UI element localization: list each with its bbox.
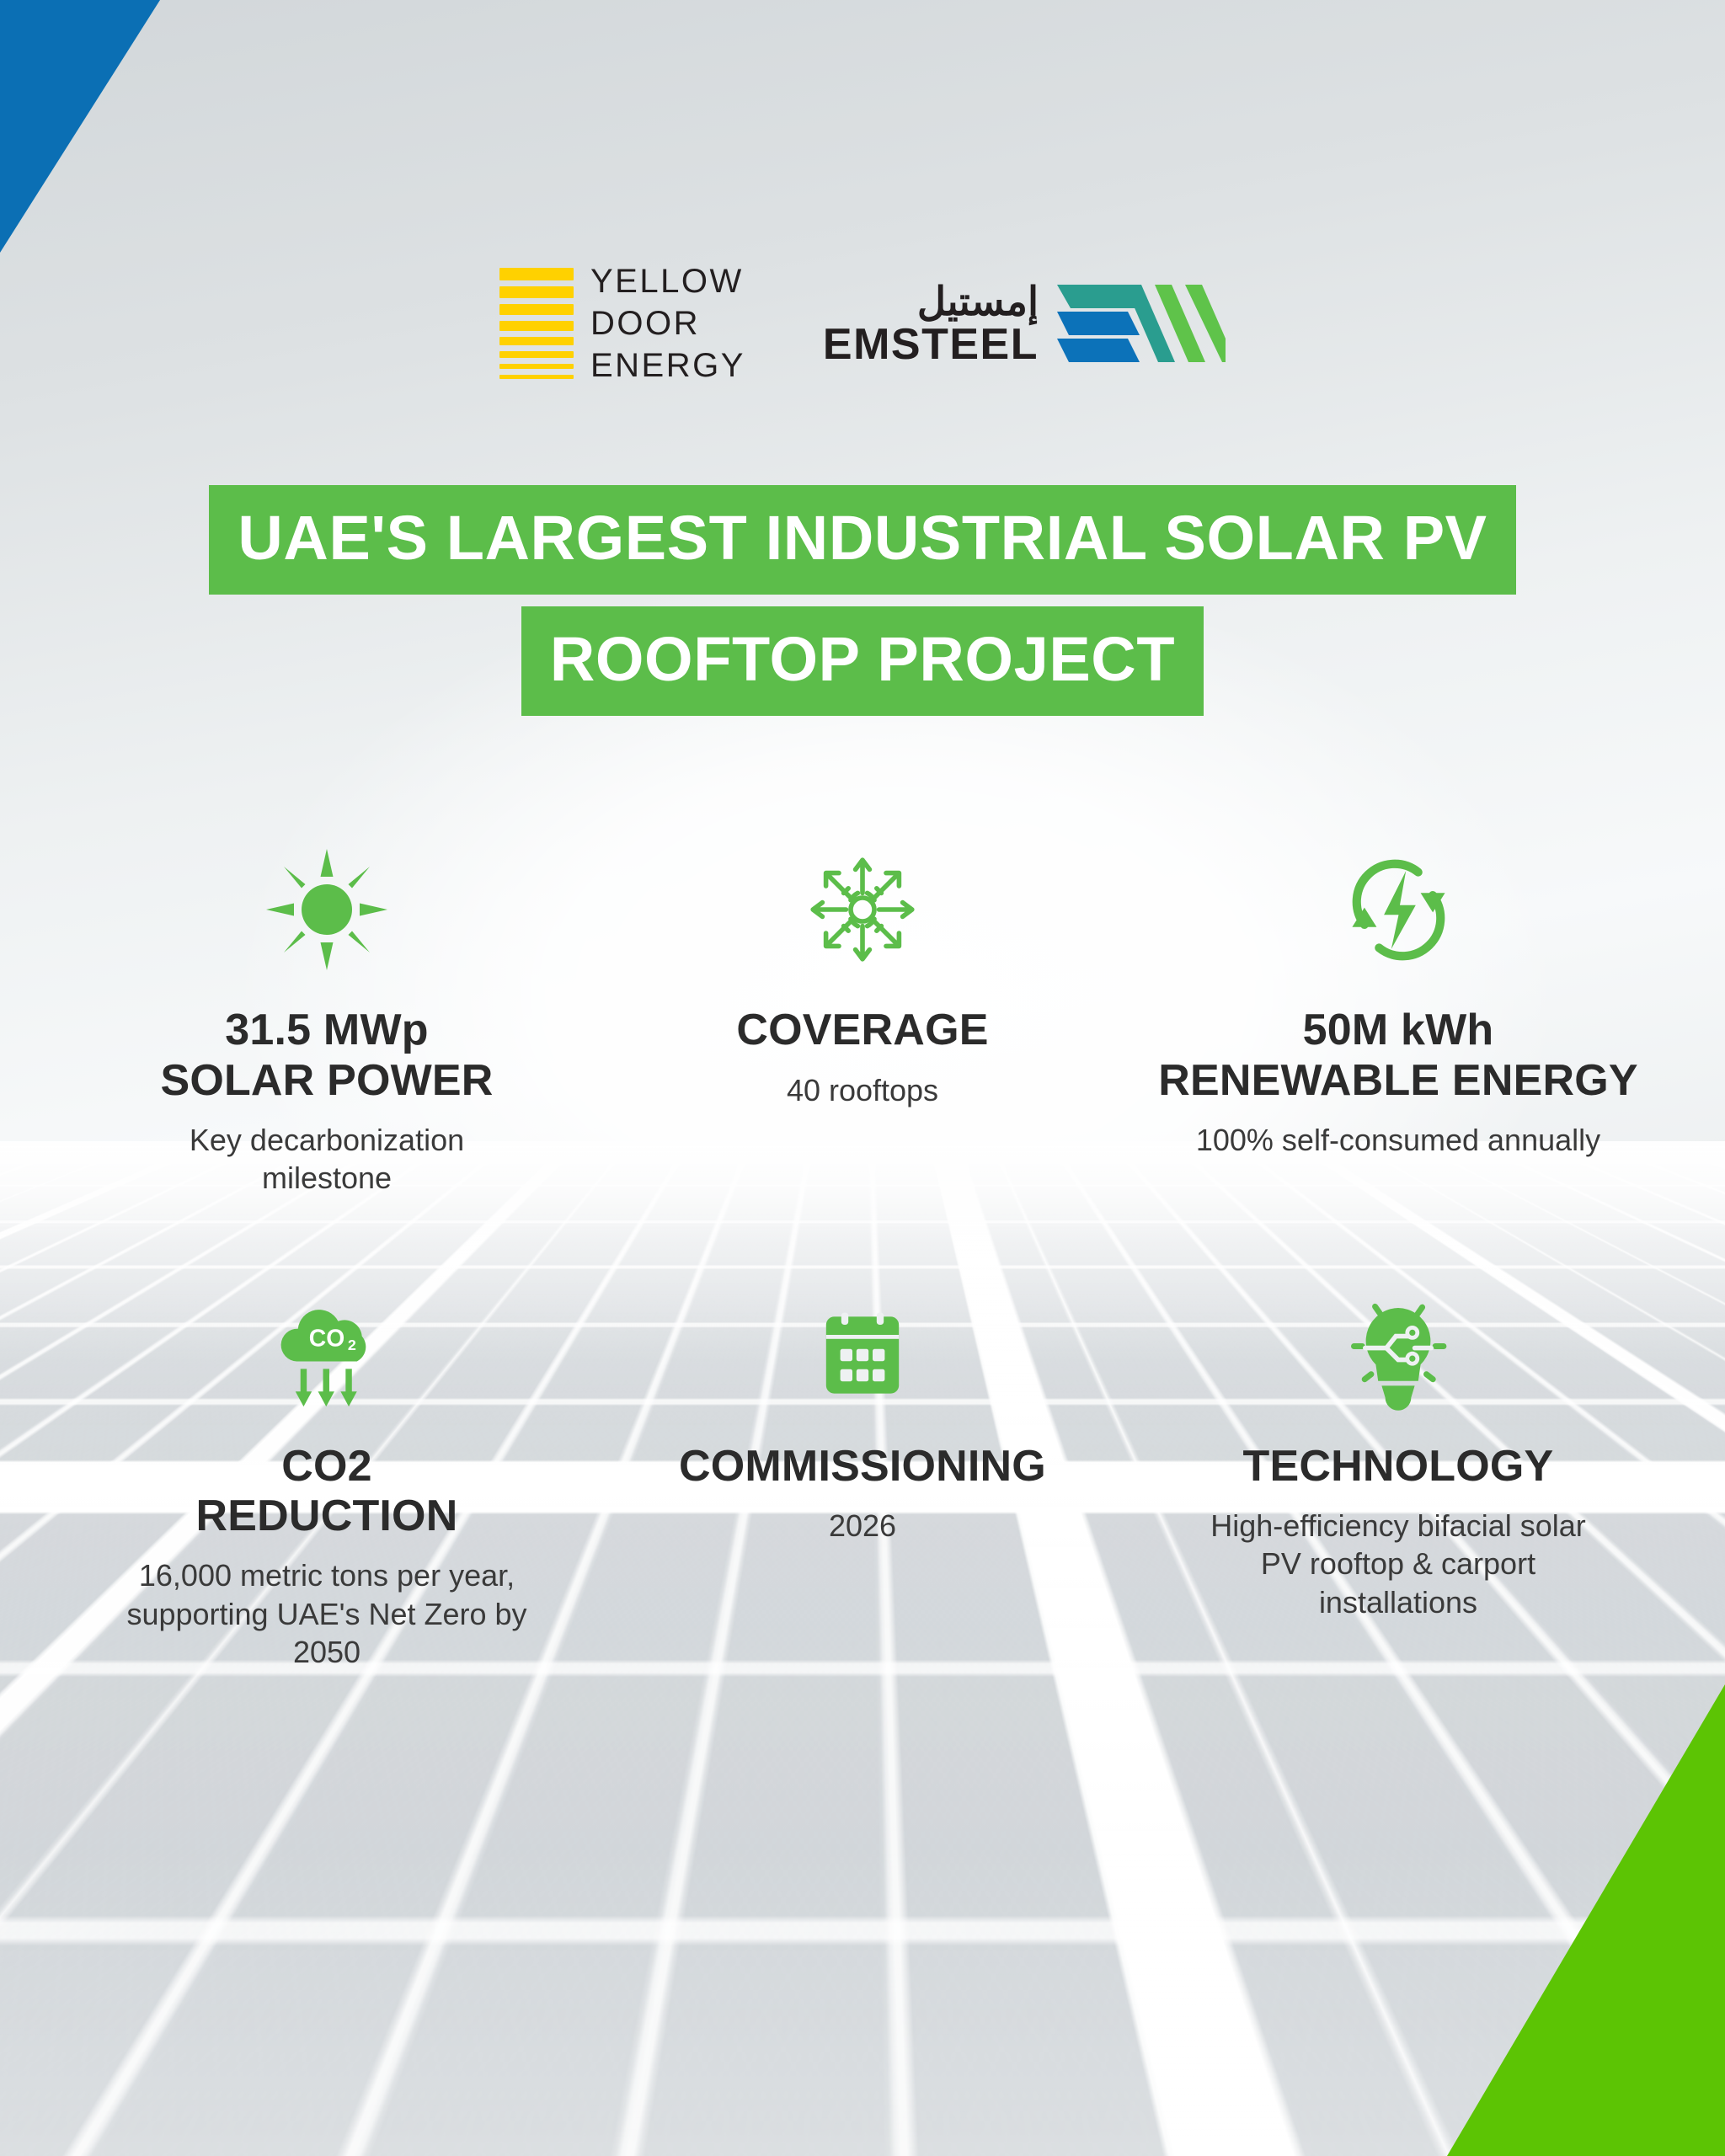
stat-sub: 16,000 metric tons per year, supporting … [120,1556,533,1671]
stat-headline: TECHNOLOGY [1243,1442,1554,1492]
yellow-door-bars-icon [499,268,574,379]
coverage-hub-icon [804,842,921,977]
stat-headline: COMMISSIONING [679,1442,1046,1492]
stat-commissioning: COMMISSIONING 2026 [595,1292,1130,1672]
stat-headline-line-1: 31.5 MWp [160,1006,493,1055]
stat-headline: 50M kWh RENEWABLE ENERGY [1158,1006,1638,1106]
stat-technology: TECHNOLOGY High-efficiency bifacial sola… [1130,1292,1666,1672]
stat-headline-line-1: 50M kWh [1158,1006,1638,1055]
stat-sub: High-efficiency bifacial solar PV roofto… [1192,1507,1605,1621]
poster-content: YELLOW DOOR ENERGY إمستيل EMSTEEL [0,0,1725,1671]
yde-line-2: DOOR [590,305,745,343]
stat-co2-reduction: CO 2 CO2 REDUCTION 16,000 metric tons pe… [59,1292,595,1672]
yde-line-1: YELLOW [590,263,745,301]
stat-headline-line-1: TECHNOLOGY [1243,1442,1554,1492]
stat-sub: 40 rooftops [787,1071,938,1109]
renewable-energy-icon [1338,842,1460,977]
emsteel-wordmark: إمستيل EMSTEEL [823,281,1039,366]
svg-text:2: 2 [348,1337,356,1353]
sun-icon [264,842,390,977]
title-line-1: UAE'S LARGEST INDUSTRIAL SOLAR PV [209,485,1515,595]
yde-line-3: ENERGY [590,347,745,385]
emsteel-mark-icon [1057,283,1226,364]
stat-headline: CO2 REDUCTION [196,1442,458,1542]
yellow-door-energy-logo: YELLOW DOOR ENERGY [499,263,745,384]
stat-sub: 100% self-consumed annually [1196,1121,1600,1159]
title-banner: UAE'S LARGEST INDUSTRIAL SOLAR PV ROOFTO… [0,485,1725,716]
co2-cloud-icon: CO 2 [264,1292,390,1418]
stat-headline-line-1: CO2 [196,1442,458,1492]
stat-sub: Key decarbonization milestone [125,1121,529,1198]
stat-headline-line-2: RENEWABLE ENERGY [1158,1056,1638,1106]
stat-headline-line-2: REDUCTION [196,1492,458,1541]
emsteel-english-text: EMSTEEL [823,323,1039,366]
stat-headline-line-1: COVERAGE [736,1006,988,1055]
yellow-door-wordmark: YELLOW DOOR ENERGY [590,263,745,384]
lightbulb-circuit-icon [1339,1292,1457,1418]
calendar-icon [812,1292,913,1418]
stat-headline-line-2: SOLAR POWER [160,1056,493,1106]
stat-coverage: COVERAGE 40 rooftops [595,842,1130,1197]
stat-headline-line-1: COMMISSIONING [679,1442,1046,1492]
emsteel-arabic-text: إمستيل [917,281,1039,321]
stat-solar-power: 31.5 MWp SOLAR POWER Key decarbonization… [59,842,595,1197]
stat-renewable-energy: 50M kWh RENEWABLE ENERGY 100% self-consu… [1130,842,1666,1197]
stats-grid: 31.5 MWp SOLAR POWER Key decarbonization… [0,842,1725,1671]
stat-headline: 31.5 MWp SOLAR POWER [160,1006,493,1106]
title-line-2: ROOFTOP PROJECT [521,606,1204,716]
svg-text:CO: CO [309,1324,344,1351]
infographic-poster: YELLOW DOOR ENERGY إمستيل EMSTEEL [0,0,1725,2156]
stat-headline: COVERAGE [736,1006,988,1055]
logo-row: YELLOW DOOR ENERGY إمستيل EMSTEEL [0,0,1725,384]
stat-sub: 2026 [829,1507,896,1545]
emsteel-logo: إمستيل EMSTEEL [823,281,1226,366]
